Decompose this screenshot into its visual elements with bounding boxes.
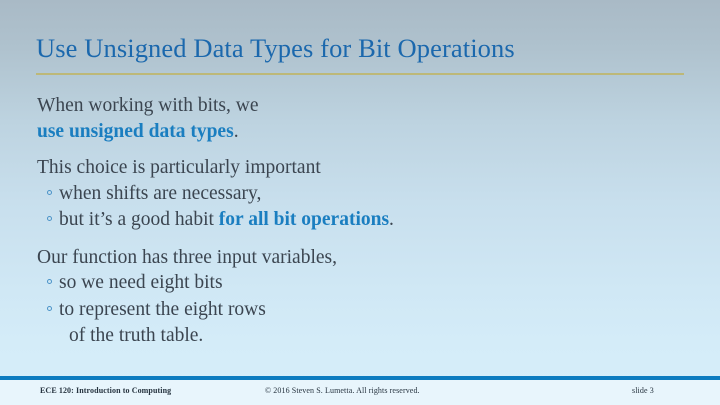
body-line: This choice is particularly important <box>37 155 697 181</box>
body-line: use unsigned data types. <box>37 119 697 145</box>
slide-body: When working with bits, we use unsigned … <box>37 93 697 350</box>
footer-slide-number: slide 3 <box>632 386 654 395</box>
bullet-circle-icon <box>47 177 59 204</box>
bullet-circle-icon <box>47 293 59 320</box>
page-title: Use Unsigned Data Types for Bit Operatio… <box>36 32 686 64</box>
list-item-head: but it’s a good habit <box>59 209 219 230</box>
body-group-1: When working with bits, we use unsigned … <box>37 93 697 144</box>
list-item-label: when shifts are necessary, <box>59 181 261 208</box>
slide-canvas: Use Unsigned Data Types for Bit Operatio… <box>0 0 720 405</box>
bullet-circle-icon <box>47 203 59 230</box>
title-divider <box>36 73 684 75</box>
body-group-3: Our function has three input variables, … <box>37 245 697 350</box>
list-item: when shifts are necessary, <box>37 181 697 208</box>
emphasis-text: use unsigned data types <box>37 121 234 142</box>
list-item-label: but it’s a good habit for all bit operat… <box>59 207 394 234</box>
body-line: When working with bits, we <box>37 93 697 119</box>
list-item-label: to represent the eight rows <box>59 297 266 324</box>
list-item: so we need eight bits <box>37 270 697 297</box>
emphasis-text: for all bit operations <box>219 209 389 230</box>
list-item-continuation: of the truth table. <box>37 323 697 350</box>
footer-course-label: ECE 120: Introduction to Computing <box>40 386 171 395</box>
body-group-2: This choice is particularly important wh… <box>37 155 697 234</box>
list-item-label: so we need eight bits <box>59 270 223 297</box>
body-line: Our function has three input variables, <box>37 245 697 271</box>
list-item-tail: . <box>389 209 394 230</box>
footer-copyright-label: © 2016 Steven S. Lumetta. All rights res… <box>265 386 420 395</box>
bullet-circle-icon <box>47 266 59 293</box>
list-item: but it’s a good habit for all bit operat… <box>37 207 697 234</box>
body-line-tail: . <box>234 121 239 142</box>
title-block: Use Unsigned Data Types for Bit Operatio… <box>36 32 686 64</box>
list-item: to represent the eight rows <box>37 297 697 324</box>
